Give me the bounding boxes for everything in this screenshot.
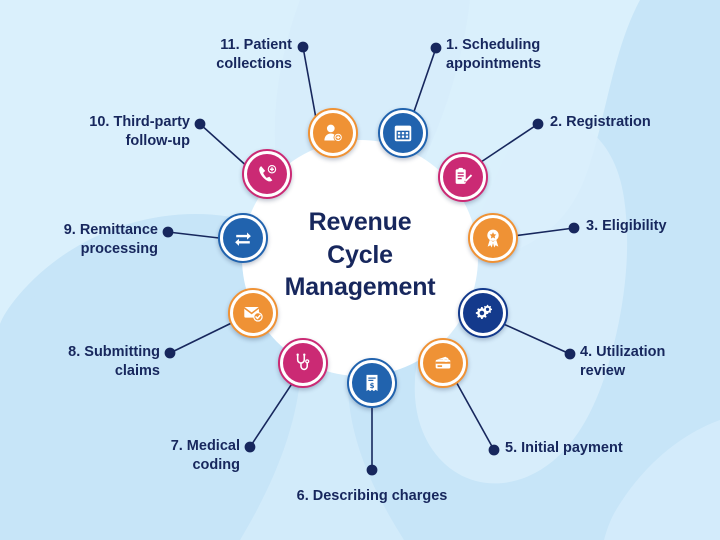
clipboard-pencil-icon xyxy=(443,157,483,197)
label-step-4: 4. Utilization review xyxy=(580,343,720,382)
svg-text:$: $ xyxy=(370,382,375,390)
connector-dot-6 xyxy=(367,465,376,474)
connector-dot-8 xyxy=(165,348,174,357)
payment-card-icon xyxy=(423,343,463,383)
invoice-dollar-icon: $ xyxy=(352,363,392,403)
connector-line-10 xyxy=(200,124,250,169)
label-step-1: 1. Scheduling appointments xyxy=(446,36,646,75)
label-step-9: 9. Remittance processing xyxy=(10,221,158,260)
label-step-5: 5. Initial payment xyxy=(505,439,695,458)
node-6-describing-charges[interactable]: $ xyxy=(347,358,397,408)
label-step-10: 10. Third-party follow-up xyxy=(20,113,190,152)
connector-line-11 xyxy=(303,47,317,124)
connector-dot-9 xyxy=(163,227,172,236)
phone-plus-icon xyxy=(247,154,287,194)
connector-dot-5 xyxy=(489,445,498,454)
connector-dot-1 xyxy=(431,43,440,52)
connector-dot-3 xyxy=(569,223,578,232)
award-ribbon-icon xyxy=(473,218,513,258)
node-11-patient-collections[interactable] xyxy=(308,108,358,158)
node-7-medical-coding[interactable] xyxy=(278,338,328,388)
connector-line-9 xyxy=(168,232,219,238)
page-title: Revenue Cycle Management xyxy=(250,206,470,304)
label-step-2: 2. Registration xyxy=(550,113,720,132)
stethoscope-icon xyxy=(283,343,323,383)
calendar-icon xyxy=(383,113,423,153)
node-4-utilization-review[interactable] xyxy=(458,288,508,338)
node-1-scheduling-appointments[interactable] xyxy=(378,108,428,158)
label-step-7: 7. Medical coding xyxy=(60,437,240,476)
label-step-3: 3. Eligibility xyxy=(586,217,716,236)
node-8-submitting-claims[interactable] xyxy=(228,288,278,338)
connector-dot-7 xyxy=(245,442,254,451)
connector-dot-10 xyxy=(195,119,204,128)
node-10-third-party-follow-up[interactable] xyxy=(242,149,292,199)
node-2-registration[interactable] xyxy=(438,152,488,202)
connector-dot-4 xyxy=(565,349,574,358)
connector-dot-2 xyxy=(533,119,542,128)
label-step-11: 11. Patient collections xyxy=(110,36,292,75)
infographic-canvas: Revenue Cycle Management xyxy=(0,0,720,540)
user-plus-icon xyxy=(313,113,353,153)
gears-icon xyxy=(463,293,503,333)
connector-dot-11 xyxy=(298,42,307,51)
node-9-remittance-processing[interactable] xyxy=(218,213,268,263)
node-3-eligibility[interactable] xyxy=(468,213,518,263)
node-5-initial-payment[interactable] xyxy=(418,338,468,388)
label-step-6: 6. Describing charges xyxy=(252,487,492,506)
label-step-8: 8. Submitting claims xyxy=(10,343,160,382)
exchange-arrows-icon xyxy=(223,218,263,258)
envelope-check-icon xyxy=(233,293,273,333)
